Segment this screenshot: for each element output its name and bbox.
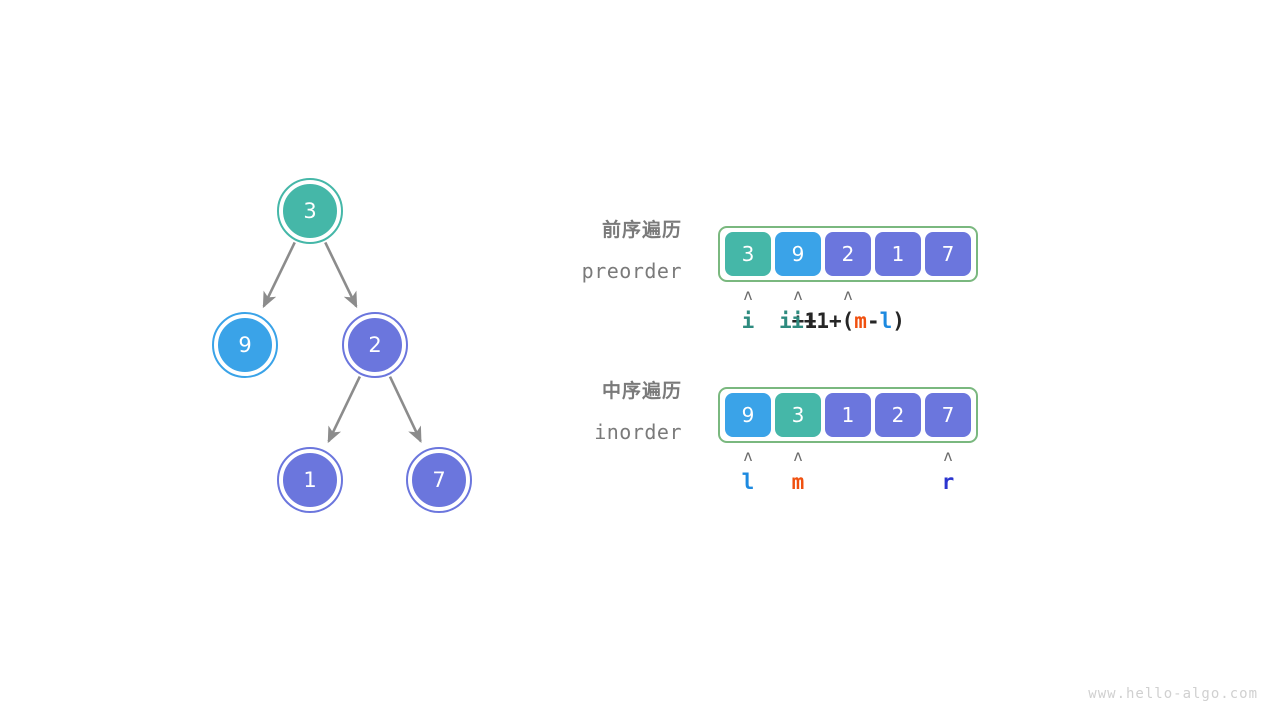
pointer-label-inorder-4: r [942,472,955,493]
watermark: www.hello-algo.com [1088,686,1258,702]
pointer-caret-preorder-1: ʌ [793,288,802,303]
pointer-token-r: r [942,470,955,494]
array-inorder: 93127 [718,387,978,443]
pointer-token-i: i [791,309,804,333]
row-label-cn-inorder: 中序遍历 [602,376,682,403]
pointer-token-l: l [880,309,893,333]
diagram-canvas: 39217 前序遍历preorder39217ʌiʌi+1ʌi+1+(m-l)中… [0,0,1280,720]
tree-node-1[interactable]: 1 [280,450,340,510]
pointer-label-inorder-0: l [742,472,755,493]
array-cell-preorder-0[interactable]: 3 [725,232,771,276]
row-label-en-inorder: inorder [594,420,682,444]
tree-node-2[interactable]: 2 [345,315,405,375]
array-cell-inorder-1[interactable]: 3 [775,393,821,437]
array-preorder: 39217 [718,226,978,282]
pointer-token-: - [867,309,880,333]
row-label-cn-preorder: 前序遍历 [602,215,682,242]
pointer-token-i: i [742,309,755,333]
row-label-en-preorder: preorder [582,259,682,283]
pointer-token-l: l [742,470,755,494]
pointer-label-preorder-0: i [742,311,755,332]
tree-node-7[interactable]: 7 [409,450,469,510]
tree-node-3[interactable]: 3 [280,181,340,241]
array-cell-preorder-4[interactable]: 7 [925,232,971,276]
tree-node-9[interactable]: 9 [215,315,275,375]
array-cell-preorder-1[interactable]: 9 [775,232,821,276]
pointer-token-1: +1+( [804,309,855,333]
array-cell-inorder-4[interactable]: 7 [925,393,971,437]
pointer-caret-inorder-1: ʌ [793,449,802,464]
pointer-token-m: m [792,470,805,494]
pointer-token-i: i [779,309,792,333]
array-cell-inorder-3[interactable]: 2 [875,393,921,437]
array-cell-preorder-2[interactable]: 2 [825,232,871,276]
array-cell-preorder-3[interactable]: 1 [875,232,921,276]
pointer-caret-inorder-0: ʌ [743,449,752,464]
pointer-caret-preorder-2: ʌ [843,288,852,303]
array-cell-inorder-0[interactable]: 9 [725,393,771,437]
traversal-rows-layer: 前序遍历preorder39217ʌiʌi+1ʌi+1+(m-l)中序遍历ino… [0,0,1280,720]
pointer-caret-inorder-4: ʌ [943,449,952,464]
pointer-token-m: m [854,309,867,333]
pointer-label-inorder-1: m [792,472,805,493]
array-cell-inorder-2[interactable]: 1 [825,393,871,437]
pointer-caret-preorder-0: ʌ [743,288,752,303]
pointer-token-: ) [892,309,905,333]
pointer-label-preorder-2: i+1+(m-l) [791,311,905,332]
